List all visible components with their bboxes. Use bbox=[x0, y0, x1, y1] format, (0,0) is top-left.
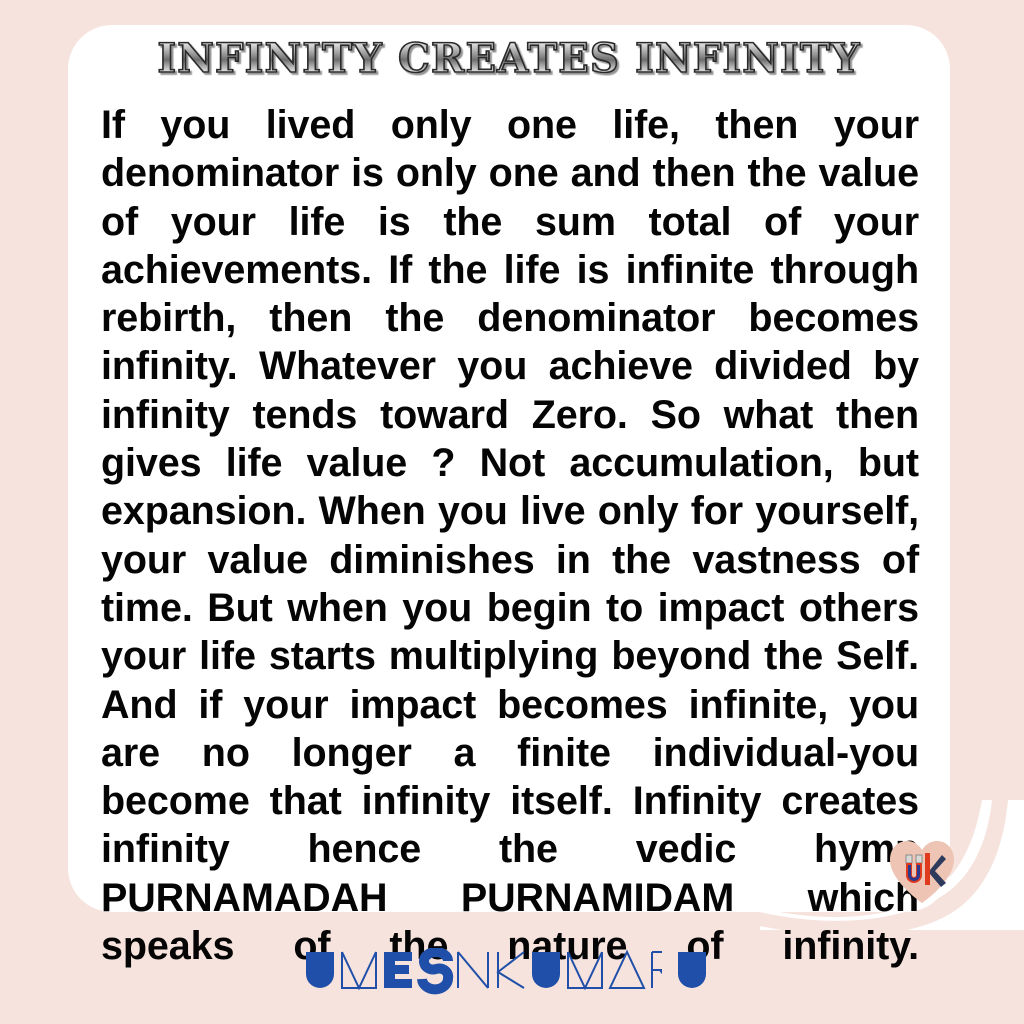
page-title: INFINITY CREATES INFINITY bbox=[157, 39, 860, 79]
umeshkumar-wordmark bbox=[302, 948, 662, 998]
heart-uk-logo-icon bbox=[886, 837, 958, 905]
umeshkumar-trailing-u-glyph bbox=[662, 948, 722, 998]
quote-card: INFINITY CREATES INFINITY If you lived o… bbox=[68, 25, 950, 912]
footer-brand bbox=[0, 938, 1024, 1008]
page-title-container: INFINITY CREATES INFINITY bbox=[68, 39, 950, 79]
quote-body-text: If you lived only one life, then your de… bbox=[101, 101, 919, 1019]
poster-canvas: INFINITY CREATES INFINITY If you lived o… bbox=[0, 0, 1024, 1024]
